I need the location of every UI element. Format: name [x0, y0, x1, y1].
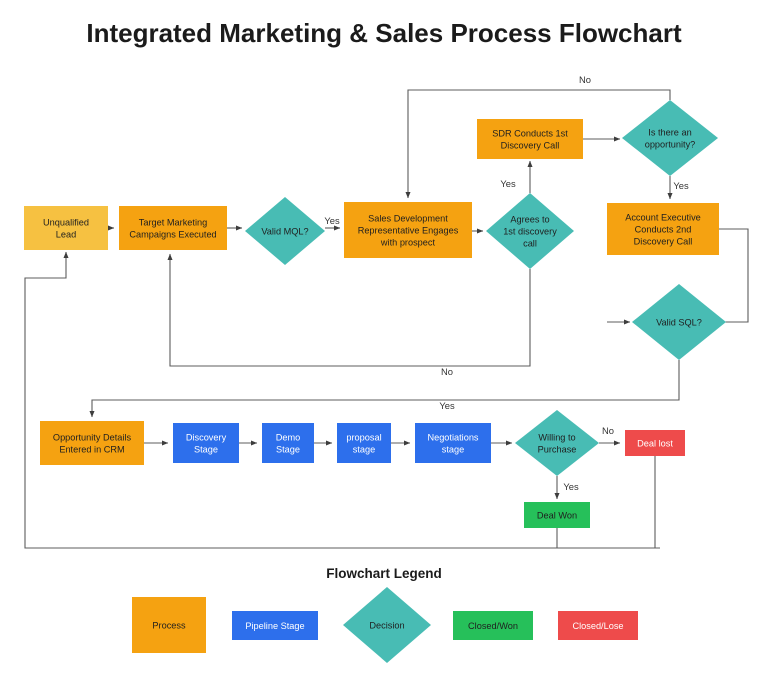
node-ae-2nd-call[interactable]: Account ExecutiveConducts 2ndDiscovery C…	[607, 203, 719, 255]
node-willing-purchase-label: Willing to	[538, 432, 575, 442]
node-layer: UnqualifiedLeadTarget MarketingCampaigns…	[24, 100, 726, 528]
node-negotiations-stage[interactable]: Negotiationsstage	[415, 423, 491, 463]
node-deal-won[interactable]: Deal Won	[524, 502, 590, 528]
node-discovery-stage[interactable]: DiscoveryStage	[173, 423, 239, 463]
legend-pipeline-label: Pipeline Stage	[245, 621, 304, 631]
node-sdr-1st-call-label: Discovery Call	[501, 140, 560, 150]
node-unqualified-lead-label: Lead	[56, 229, 76, 239]
node-shape	[337, 423, 391, 463]
node-proposal-stage-label: stage	[353, 444, 375, 454]
node-sdr-engages-label: Representative Engages	[358, 225, 459, 235]
edge-label-agrees-no: No	[441, 366, 453, 377]
flowchart-canvas: Integrated Marketing & Sales Process Flo…	[0, 0, 768, 682]
node-sdr-1st-call-label: SDR Conducts 1st	[492, 128, 568, 138]
node-opportunity-crm[interactable]: Opportunity DetailsEntered in CRM	[40, 421, 144, 465]
node-valid-sql-label: Valid SQL?	[656, 317, 702, 327]
legend-won[interactable]: Closed/Won	[453, 611, 533, 640]
node-ae-2nd-call-label: Account Executive	[625, 212, 701, 222]
node-valid-sql[interactable]: Valid SQL?	[632, 284, 726, 360]
node-agrees-1st-call-label: call	[523, 238, 537, 248]
node-agrees-1st-call-label: Agrees to	[510, 214, 549, 224]
node-shape	[477, 119, 583, 159]
node-deal-won-label: Deal Won	[537, 510, 577, 520]
node-opportunity-crm-label: Entered in CRM	[59, 444, 124, 454]
edge-label-opportunity-yes: Yes	[673, 180, 689, 191]
connector-sql-yes-down	[92, 360, 679, 417]
legend-lose-label: Closed/Lose	[572, 621, 623, 631]
node-valid-mql-label: Valid MQL?	[261, 226, 308, 236]
legend-title: Flowchart Legend	[326, 566, 442, 581]
edge-label-valid-mql-yes: Yes	[324, 215, 340, 226]
node-proposal-stage[interactable]: proposalstage	[337, 423, 391, 463]
node-sdr-1st-call[interactable]: SDR Conducts 1stDiscovery Call	[477, 119, 583, 159]
connector-agrees-no-down	[170, 254, 530, 366]
edge-label-opportunity-no: No	[579, 74, 591, 85]
node-shape	[262, 423, 314, 463]
node-demo-stage-label: Demo	[276, 432, 301, 442]
node-is-opportunity-label: Is there an	[648, 127, 691, 137]
connector-ae-to-sql-right	[719, 229, 748, 322]
legend-process-label: Process	[152, 620, 186, 630]
node-is-opportunity-label: opportunity?	[645, 139, 696, 149]
node-shape	[173, 423, 239, 463]
node-ae-2nd-call-label: Conducts 2nd	[635, 224, 692, 234]
node-discovery-stage-label: Stage	[194, 444, 218, 454]
node-shape	[415, 423, 491, 463]
flowchart-svg: Integrated Marketing & Sales Process Flo…	[0, 0, 768, 682]
node-target-marketing[interactable]: Target MarketingCampaigns Executed	[119, 206, 227, 250]
edge-label-valid-sql-yes: Yes	[439, 400, 455, 411]
edge-label-willing-yes: Yes	[563, 481, 579, 492]
legend-layer: ProcessPipeline StageDecisionClosed/WonC…	[132, 587, 638, 663]
node-sdr-engages-label: with prospect	[380, 237, 436, 247]
node-shape	[119, 206, 227, 250]
node-negotiations-stage-label: Negotiations	[427, 432, 478, 442]
node-target-marketing-label: Target Marketing	[139, 217, 207, 227]
node-demo-stage-label: Stage	[276, 444, 300, 454]
edge-label-agrees-yes: Yes	[500, 178, 516, 189]
node-shape	[24, 206, 108, 250]
node-is-opportunity[interactable]: Is there anopportunity?	[622, 100, 718, 176]
legend-decision[interactable]: Decision	[343, 587, 431, 663]
node-negotiations-stage-label: stage	[442, 444, 464, 454]
node-sdr-engages-label: Sales Development	[368, 213, 448, 223]
node-deal-lost[interactable]: Deal lost	[625, 430, 685, 456]
page-title: Integrated Marketing & Sales Process Flo…	[86, 18, 682, 48]
node-target-marketing-label: Campaigns Executed	[129, 229, 216, 239]
node-demo-stage[interactable]: DemoStage	[262, 423, 314, 463]
node-willing-purchase-label: Purchase	[538, 444, 577, 454]
node-deal-lost-label: Deal lost	[637, 438, 673, 448]
legend-process[interactable]: Process	[132, 597, 206, 653]
legend-lose[interactable]: Closed/Lose	[558, 611, 638, 640]
legend-pipeline[interactable]: Pipeline Stage	[232, 611, 318, 640]
legend-won-label: Closed/Won	[468, 621, 518, 631]
legend-decision-label: Decision	[369, 620, 404, 630]
node-opportunity-crm-label: Opportunity Details	[53, 432, 132, 442]
node-agrees-1st-call[interactable]: Agrees to1st discoverycall	[486, 193, 574, 269]
node-shape	[40, 421, 144, 465]
node-unqualified-lead[interactable]: UnqualifiedLead	[24, 206, 108, 250]
node-discovery-stage-label: Discovery	[186, 432, 227, 442]
decision-diamond	[622, 100, 718, 176]
node-unqualified-lead-label: Unqualified	[43, 217, 89, 227]
decision-diamond	[515, 410, 599, 476]
node-proposal-stage-label: proposal	[346, 432, 381, 442]
node-valid-mql[interactable]: Valid MQL?	[245, 197, 325, 265]
node-willing-purchase[interactable]: Willing toPurchase	[515, 410, 599, 476]
edge-label-willing-no: No	[602, 425, 614, 436]
node-agrees-1st-call-label: 1st discovery	[503, 226, 557, 236]
node-sdr-engages[interactable]: Sales DevelopmentRepresentative Engagesw…	[344, 202, 472, 258]
node-ae-2nd-call-label: Discovery Call	[634, 236, 693, 246]
